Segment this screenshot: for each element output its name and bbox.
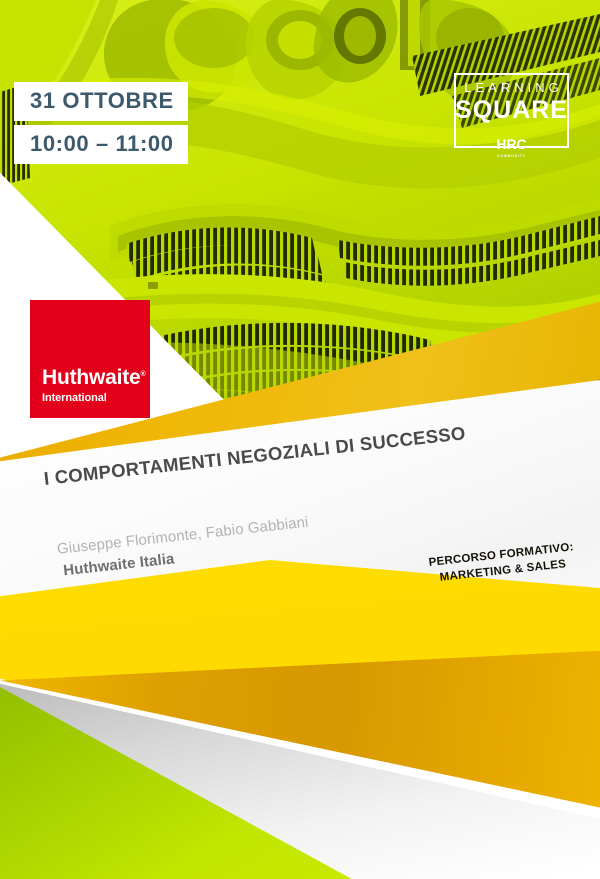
hrc-badge-inner: HRC COMMUNITY [493,136,529,158]
huthwaite-name-text: Huthwaite [42,366,141,389]
learning-square-line2: SQUARE [454,97,569,123]
huthwaite-international-logo: Huthwaite® International [30,300,150,418]
learning-square-line1: LEARNING [454,80,569,96]
registered-trademark-icon: ® [141,371,146,378]
huthwaite-wordmark: Huthwaite® International [30,367,150,404]
event-datetime-block: 31 OTTOBRE 10:00 – 11:00 [14,82,188,164]
learning-square-wordmark: LEARNING SQUARE [454,80,569,123]
event-time: 10:00 – 11:00 [14,125,188,164]
hrc-badge-label: HRC [496,136,526,152]
hrc-badge: HRC COMMUNITY [454,136,569,162]
hrc-badge-sublabel: COMMUNITY [496,155,526,158]
huthwaite-name: Huthwaite® [42,367,146,388]
event-poster: 31 OTTOBRE 10:00 – 11:00 LEARNING SQUARE… [0,0,600,879]
huthwaite-subtitle: International [42,392,150,404]
event-date: 31 OTTOBRE [14,82,188,121]
